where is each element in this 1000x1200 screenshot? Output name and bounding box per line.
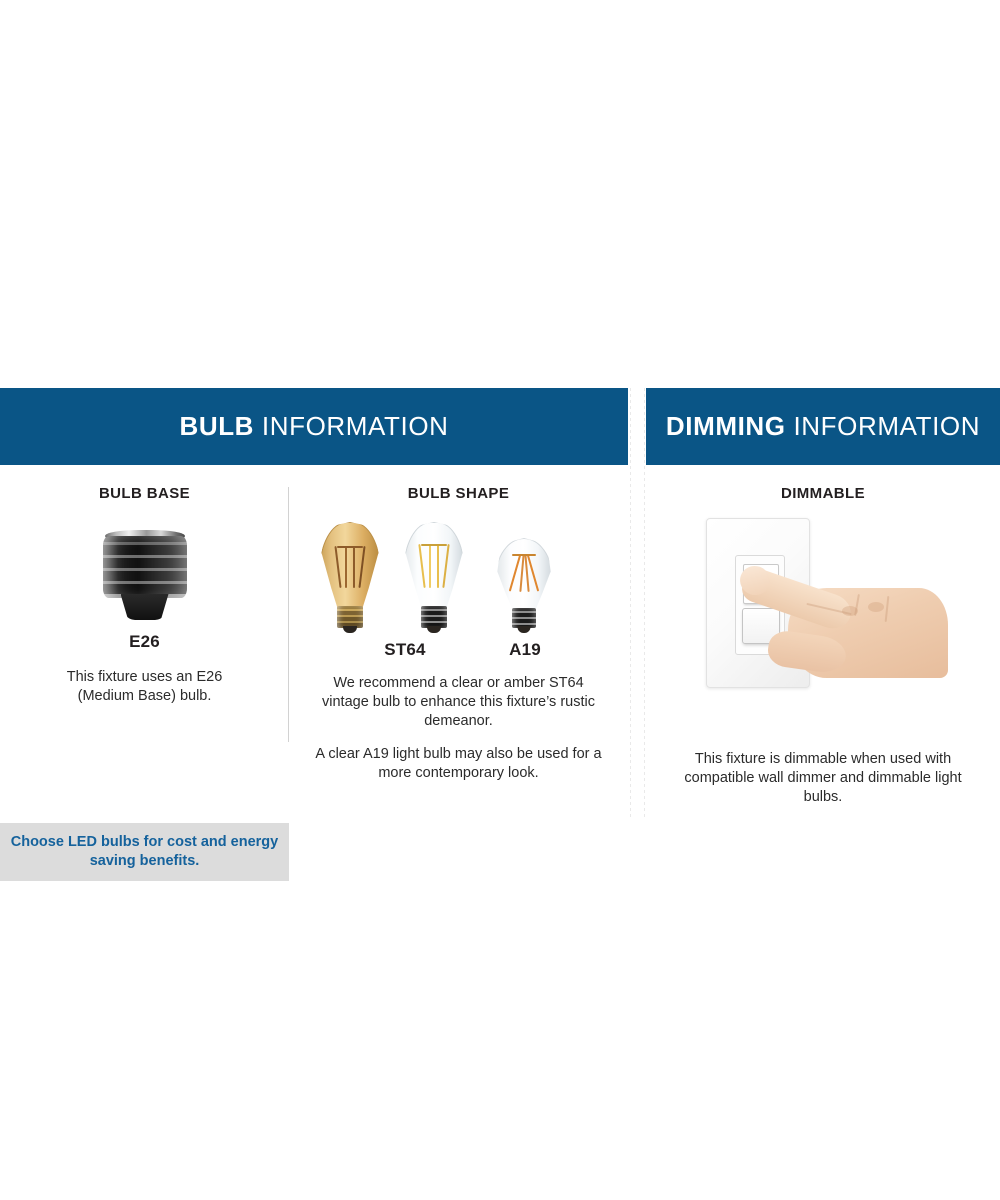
st64-clear-filament (421, 544, 447, 590)
bulb-base-column: BULB BASE E26 This fixture uses an E26 (… (0, 465, 289, 818)
a19-base-tip (518, 626, 531, 633)
led-callout-text: Choose LED bulbs for cost and energy sav… (0, 833, 289, 871)
bulb-header-strong: BULB (179, 411, 254, 441)
st64-clear-base-tip (427, 626, 441, 633)
st64-amber-filament (337, 546, 363, 590)
dimmable-title: DIMMABLE (646, 465, 1000, 502)
bulb-base-label: E26 (0, 632, 289, 652)
bulb-shape-title: BULB SHAPE (289, 465, 628, 502)
st64-clear-screw-base (421, 606, 447, 628)
paragraph-spacer (289, 731, 628, 745)
bulb-base-art (0, 512, 289, 624)
bulb-shape-label-a19: A19 (495, 640, 555, 660)
dimming-information-header-text: DIMMING INFORMATION (666, 411, 980, 442)
wall-dimmer-switch-with-hand-icon (646, 508, 1000, 748)
bulb-st64-amber-icon (319, 522, 381, 634)
panel-separator-dotted-left (630, 388, 631, 818)
bulb-st64-clear-icon (403, 522, 465, 634)
e26-base-tip (121, 594, 169, 620)
dimming-information-header: DIMMING INFORMATION (646, 388, 1000, 465)
st64-amber-screw-base (337, 606, 363, 628)
dimming-information-body: DIMMABLE (646, 465, 1000, 807)
bulb-base-title: BULB BASE (0, 465, 289, 502)
bulb-header-rest-spacer (254, 411, 262, 441)
e26-screw-base-icon (97, 528, 193, 624)
bulb-information-header: BULB INFORMATION (0, 388, 628, 465)
dimmable-description: This fixture is dimmable when used with … (646, 750, 1000, 807)
a19-clear-filament (512, 554, 536, 592)
bulb-shape-column: BULB SHAPE (289, 465, 628, 818)
bulb-information-body: BULB BASE E26 This fixture uses an E26 (… (0, 465, 628, 818)
dimming-header-rest: INFORMATION (793, 411, 980, 441)
dimming-header-strong: DIMMING (666, 411, 786, 441)
bulb-shape-label-st64: ST64 (345, 640, 465, 660)
bulb-information-header-text: BULB INFORMATION (179, 411, 448, 442)
dimming-information-panel: DIMMING INFORMATION DIMMABLE (646, 388, 1000, 807)
bulb-shape-paragraph-1: We recommend a clear or amber ST64 vinta… (289, 674, 628, 731)
bulb-a19-clear-icon (495, 538, 553, 634)
bulb-and-dimming-info-band: BULB INFORMATION BULB BASE E26 This fixt… (0, 388, 1000, 818)
hand-icon (746, 560, 946, 680)
led-callout-box: Choose LED bulbs for cost and energy sav… (0, 823, 289, 881)
a19-screw-base (512, 608, 536, 628)
bulb-base-description: This fixture uses an E26 (Medium Base) b… (0, 668, 289, 706)
st64-amber-base-tip (343, 626, 357, 633)
bulb-shape-labels: ST64 A19 (289, 640, 628, 666)
bulb-header-rest: INFORMATION (262, 411, 449, 441)
bulb-information-panel: BULB INFORMATION BULB BASE E26 This fixt… (0, 388, 628, 818)
panel-separator-dotted-right (644, 388, 645, 818)
hand-knuckle (868, 602, 884, 612)
bulb-shape-paragraph-2: A clear A19 light bulb may also be used … (289, 745, 628, 783)
e26-base-threads (103, 536, 187, 598)
bulb-shape-art (289, 514, 628, 634)
